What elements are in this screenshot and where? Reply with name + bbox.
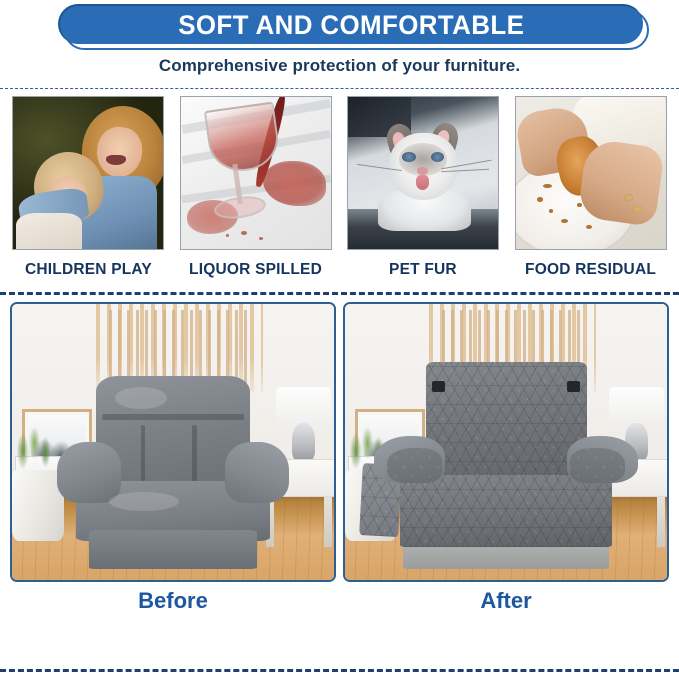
slipcover-arm-left [387, 448, 442, 484]
header-banner: SOFT AND COMFORTABLE [0, 2, 679, 54]
use-case-item: CHILDREN PLAY [12, 96, 164, 286]
photo-room-after [345, 304, 667, 580]
use-case-item: PET FUR [347, 96, 499, 286]
slipcover-backrest [426, 362, 587, 481]
recliner-arm-left [57, 442, 121, 503]
header-subtitle: Comprehensive protection of your furnitu… [0, 56, 679, 76]
before-after-comparison: Before [0, 302, 679, 614]
before-photo-frame [10, 302, 336, 582]
divider-bottom [0, 669, 679, 672]
after-photo-frame [343, 302, 669, 582]
photo-food-residue [516, 97, 666, 249]
use-case-item: FOOD RESIDUAL [515, 96, 667, 286]
banner-pill: SOFT AND COMFORTABLE [58, 4, 643, 44]
use-case-label: FOOD RESIDUAL [525, 261, 656, 279]
white-pedestal-stool [12, 470, 64, 542]
use-case-gallery: CHILDREN PLAY LIQUO [0, 96, 679, 286]
slipcover-seat [400, 475, 613, 547]
table-lamp [276, 387, 331, 426]
use-case-photo-children-play [12, 96, 164, 250]
recliner-footrest [89, 530, 256, 569]
use-case-label: CHILDREN PLAY [24, 261, 151, 279]
use-case-photo-food-residual [515, 96, 667, 250]
after-label: After [480, 588, 531, 614]
use-case-photo-liquor-spilled [180, 96, 332, 250]
comparison-panel-after: After [343, 302, 669, 614]
divider-top [0, 88, 679, 89]
photo-room-before [12, 304, 334, 580]
comparison-panel-before: Before [10, 302, 336, 614]
slipcover-arm-right [570, 448, 625, 484]
photo-wine-spill [181, 97, 331, 249]
banner-title: SOFT AND COMFORTABLE [178, 10, 524, 41]
divider-middle [0, 292, 679, 295]
use-case-label: LIQUOR SPILLED [189, 261, 322, 279]
table-lamp [609, 387, 664, 426]
use-case-label: PET FUR [389, 261, 457, 279]
potted-plant [15, 425, 54, 469]
product-infographic: SOFT AND COMFORTABLE Comprehensive prote… [0, 0, 679, 676]
photo-children-playing [13, 97, 163, 249]
use-case-photo-pet-fur [347, 96, 499, 250]
before-label: Before [138, 588, 208, 614]
use-case-item: LIQUOR SPILLED [180, 96, 332, 286]
recliner-arm-right [225, 442, 289, 503]
photo-cat [348, 97, 498, 249]
